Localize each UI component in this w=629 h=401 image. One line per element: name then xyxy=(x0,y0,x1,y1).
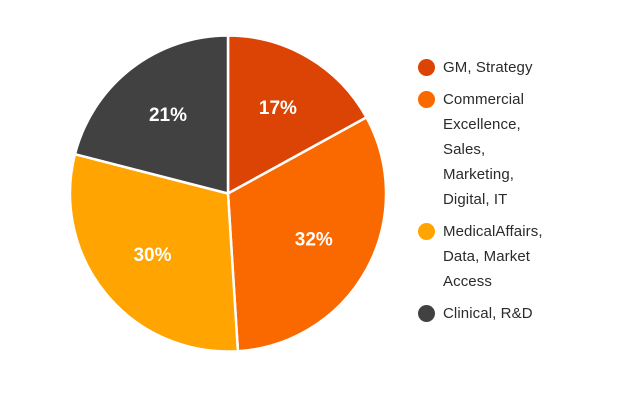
legend: GM, StrategyCommercial Excellence, Sales… xyxy=(418,55,618,333)
legend-color-swatch-icon xyxy=(418,59,435,76)
pie-chart-figure: 17%32%30%21% GM, StrategyCommercial Exce… xyxy=(0,0,629,401)
pie-slice-data-label: 30% xyxy=(133,245,171,266)
legend-item-label: GM, Strategy xyxy=(443,55,533,80)
legend-color-swatch-icon xyxy=(418,223,435,240)
legend-color-swatch-icon xyxy=(418,305,435,322)
legend-item-label: Commercial Excellence, Sales, Marketing,… xyxy=(443,87,524,212)
pie-plot-area: 17%32%30%21% xyxy=(70,35,386,352)
legend-item[interactable]: MedicalAffairs, Data, Market Access xyxy=(418,219,618,294)
legend-color-swatch-icon xyxy=(418,91,435,108)
legend-item[interactable]: Clinical, R&D xyxy=(418,301,618,326)
pie-slices-group xyxy=(70,36,386,352)
legend-item-label: MedicalAffairs, Data, Market Access xyxy=(443,219,543,294)
pie-slice-data-label: 21% xyxy=(149,105,187,126)
legend-item[interactable]: Commercial Excellence, Sales, Marketing,… xyxy=(418,87,618,212)
pie-slice-data-label: 17% xyxy=(259,98,297,119)
pie-svg: 17%32%30%21% xyxy=(70,35,386,352)
legend-item-label: Clinical, R&D xyxy=(443,301,533,326)
pie-slice-data-label: 32% xyxy=(295,230,333,251)
legend-item[interactable]: GM, Strategy xyxy=(418,55,618,80)
